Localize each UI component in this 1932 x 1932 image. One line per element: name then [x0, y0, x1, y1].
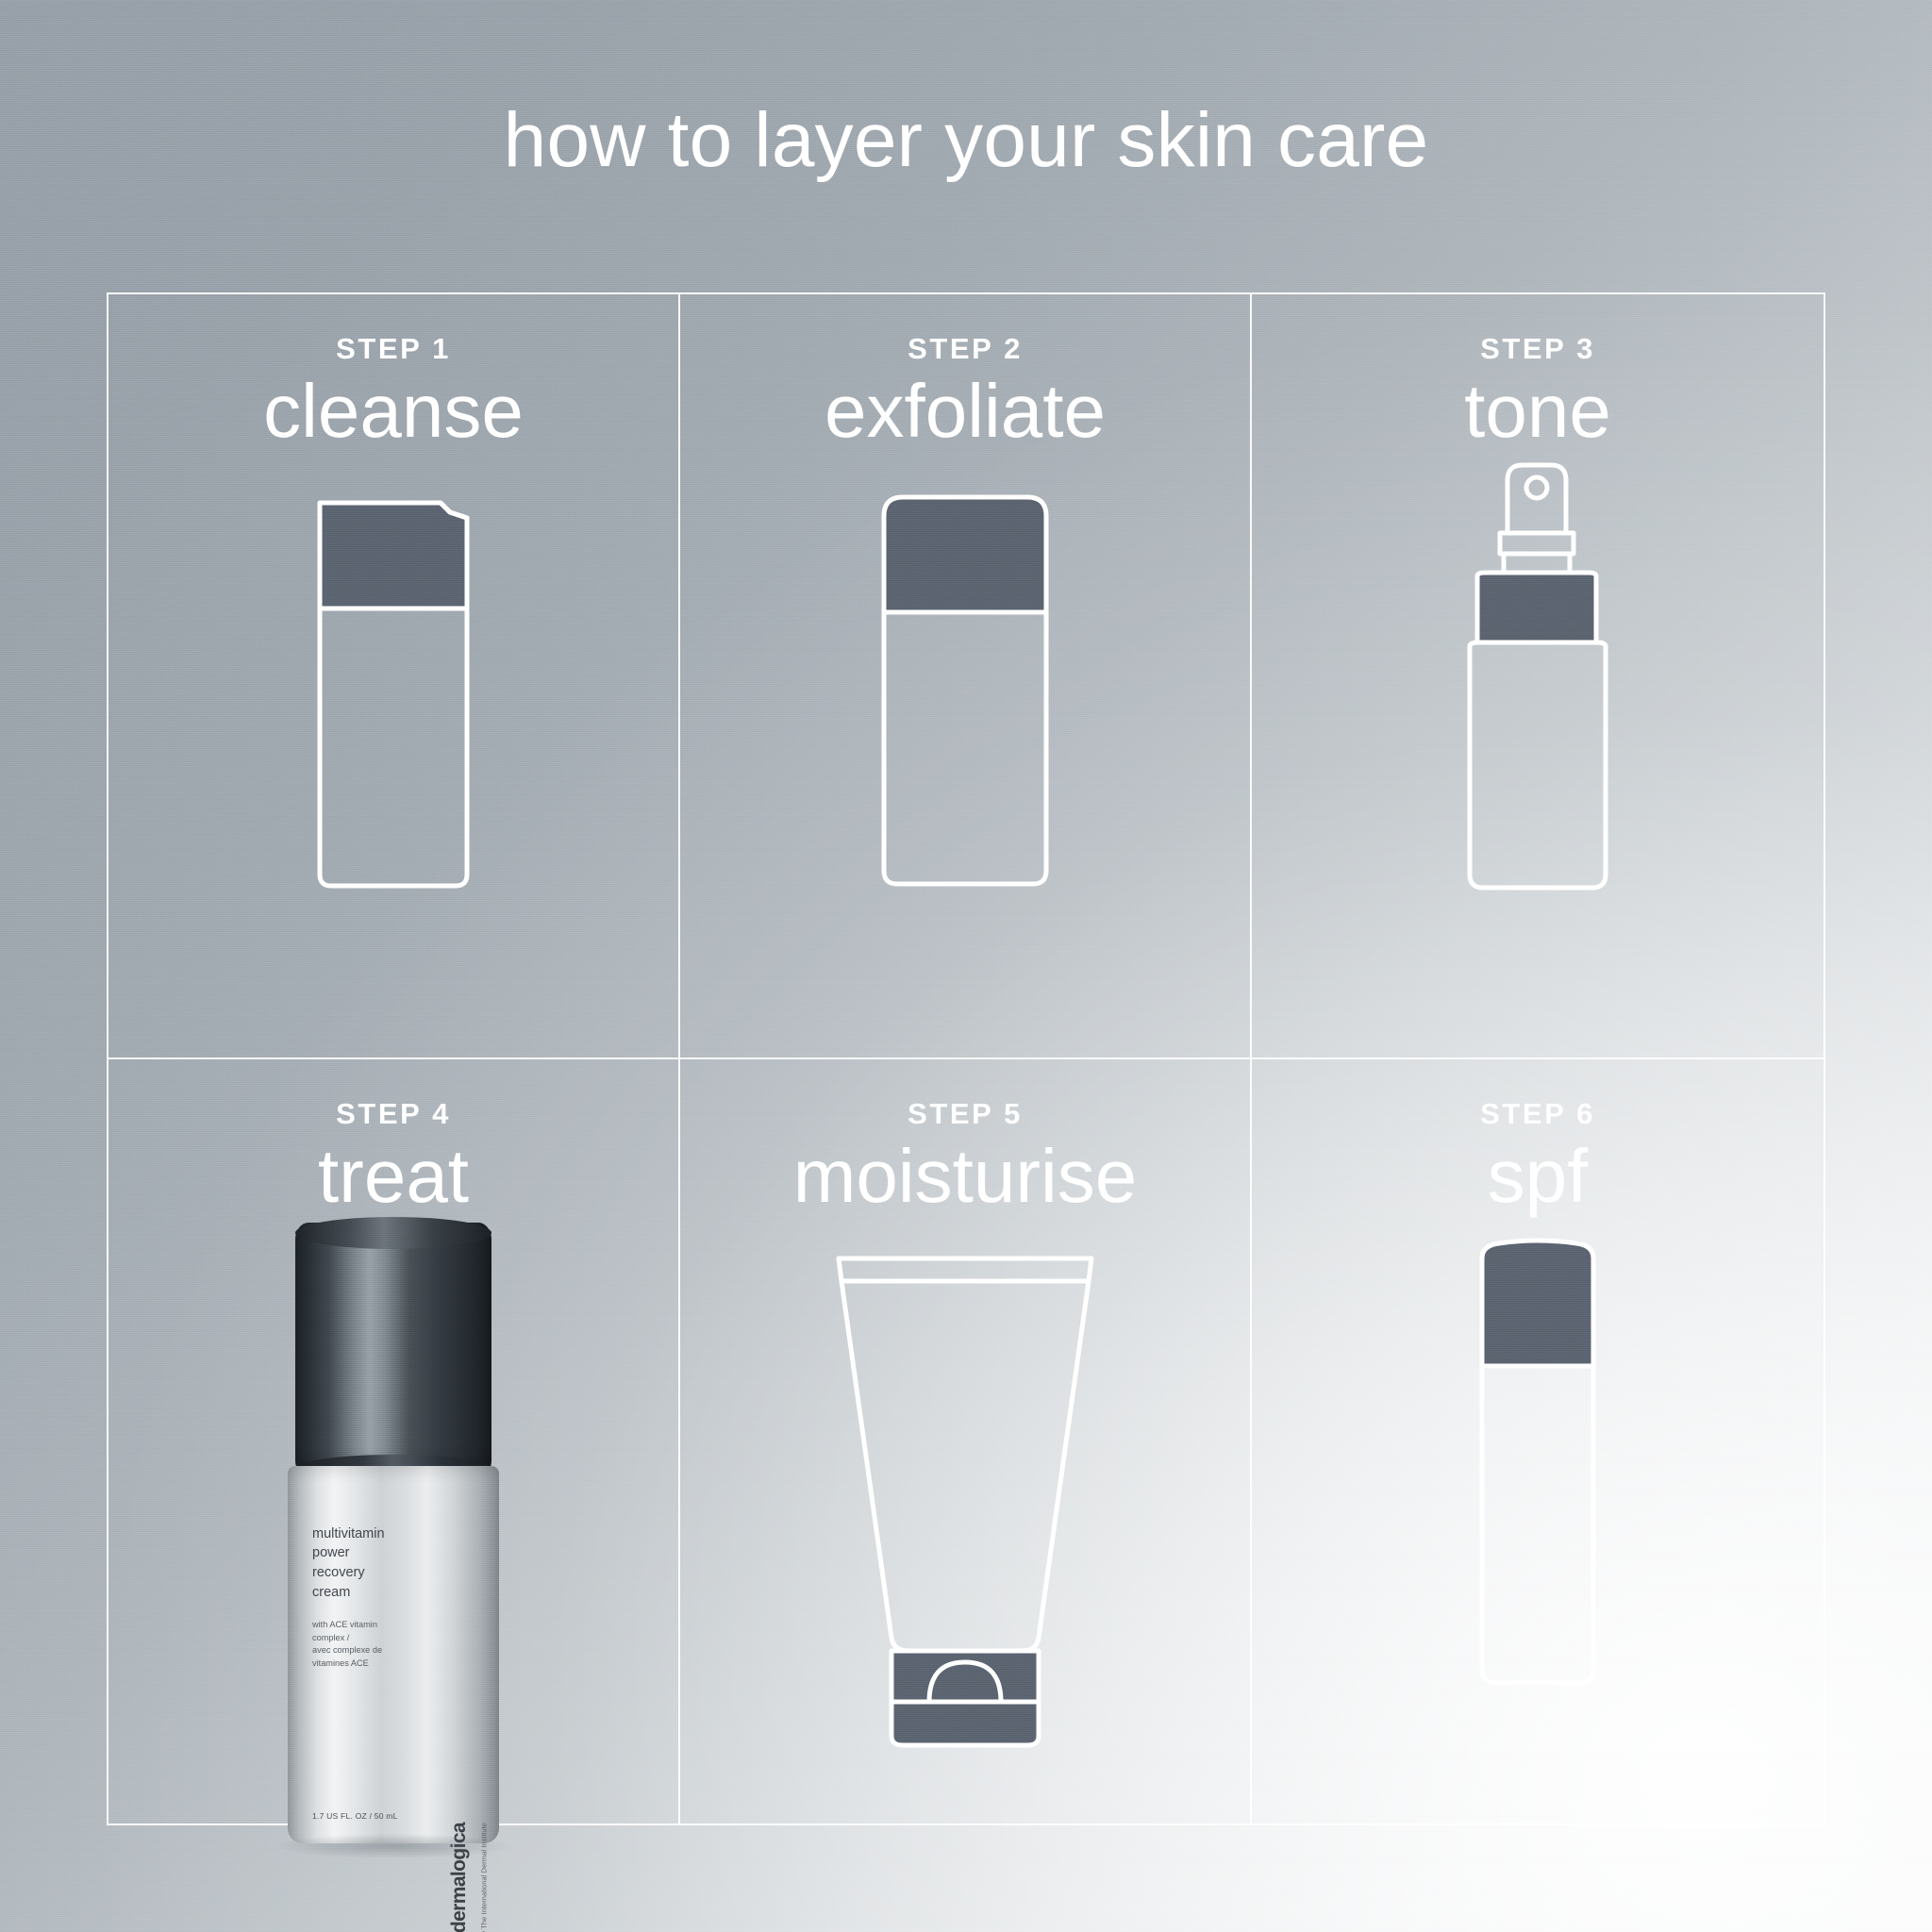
step-art-6 [1252, 1217, 1824, 1824]
step-cell-6[interactable]: STEP 6 spf [1252, 1059, 1824, 1824]
step-cell-3[interactable]: STEP 3 tone [1252, 294, 1824, 1059]
jar-body: multivitamin power recovery cream with A… [288, 1466, 499, 1843]
step-title-5: moisturise [793, 1136, 1138, 1217]
step-art-3 [1252, 452, 1824, 1057]
step-label-2: STEP 2 [908, 334, 1023, 363]
step-label-1: STEP 1 [336, 334, 451, 363]
jar-cap [295, 1223, 491, 1477]
page-title: how to layer your skin care [0, 98, 1932, 183]
step-art-4: multivitamin power recovery cream with A… [108, 1217, 678, 1824]
step-title-3: tone [1464, 371, 1611, 452]
step-cell-5[interactable]: STEP 5 moisturise [680, 1059, 1252, 1824]
step-cell-1[interactable]: STEP 1 cleanse [108, 294, 680, 1059]
spray-bottle-icon [1453, 452, 1623, 942]
spf-bottle-icon [1467, 1224, 1608, 1715]
cleanser-bottle-icon [308, 469, 478, 922]
jar-product-name: multivitamin power recovery cream [312, 1524, 385, 1602]
step-art-2 [680, 452, 1250, 1057]
step-cell-2[interactable]: STEP 2 exfoliate [680, 294, 1252, 1059]
step-label-6: STEP 6 [1480, 1099, 1595, 1128]
moisturiser-tube-icon [824, 1243, 1107, 1772]
step-title-2: exfoliate [824, 371, 1106, 452]
step-title-1: cleanse [263, 371, 524, 452]
step-label-5: STEP 5 [908, 1099, 1023, 1128]
step-label-4: STEP 4 [336, 1099, 451, 1128]
steps-grid: STEP 1 cleanse STEP 2 exfoliate [107, 292, 1825, 1825]
step-title-4: treat [318, 1136, 469, 1217]
step-label-3: STEP 3 [1480, 334, 1595, 363]
jar-product-subtext: with ACE vitamin complex / avec complexe… [312, 1619, 382, 1671]
step-cell-4[interactable]: STEP 4 treat multivitamin power recovery… [108, 1059, 680, 1824]
exfoliant-bottle-icon [871, 475, 1059, 918]
step-title-6: spf [1488, 1136, 1589, 1217]
step-art-5 [680, 1217, 1250, 1824]
jar-drop-shadow [275, 1834, 511, 1858]
step-art-1 [108, 452, 678, 1057]
jar-volume: 1.7 US FL. OZ / 50 mL [312, 1811, 398, 1821]
poster-canvas: how to layer your skin care STEP 1 clean… [0, 0, 1932, 1932]
multivitamin-recovery-cream-jar[interactable]: multivitamin power recovery cream with A… [288, 1223, 499, 1845]
